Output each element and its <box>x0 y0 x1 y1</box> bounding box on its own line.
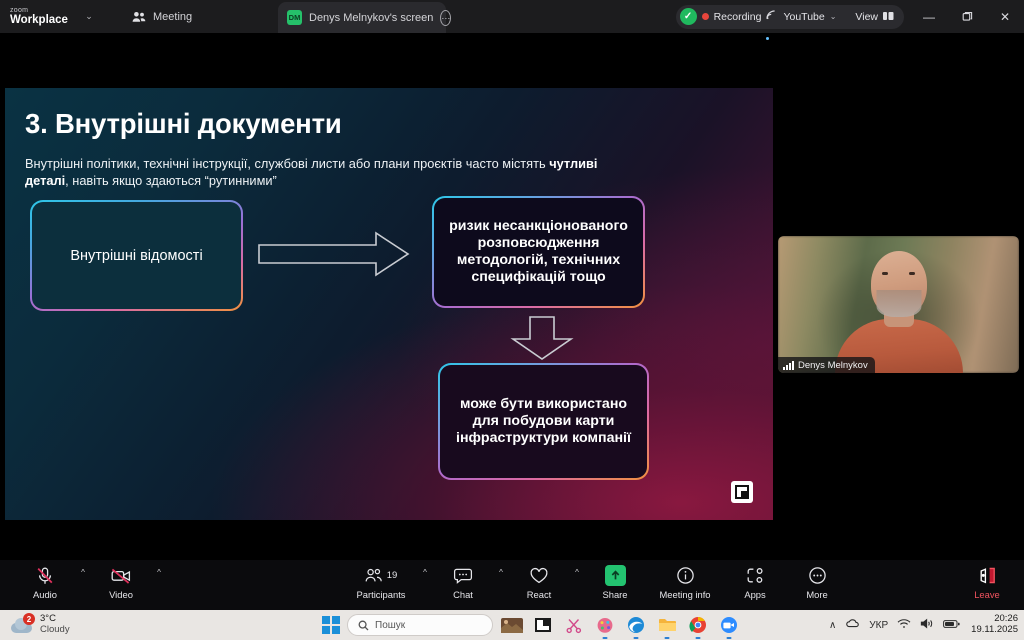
avatar: DM <box>287 10 302 25</box>
layout-icon <box>883 8 894 26</box>
participant-video-image <box>778 236 1019 373</box>
zoom-meeting-window: zoom Workplace ⌄ Meeting DM Denys Melnyk… <box>0 0 1024 640</box>
minimize-button[interactable]: — <box>910 0 948 33</box>
view-label[interactable]: View <box>855 11 878 23</box>
more-dots-icon <box>808 565 827 586</box>
titlebar-right-controls: ✓ Recording YouTube ⌄ View <box>676 0 1024 33</box>
toolbar-right-group: Leave <box>956 560 1018 600</box>
chevron-down-icon[interactable]: ⌄ <box>830 12 837 21</box>
participants-count: 19 <box>387 570 398 581</box>
windows-taskbar: 2 3°C Cloudy Пошук <box>0 610 1024 640</box>
share-button[interactable]: Share <box>584 560 646 600</box>
more-label: More <box>806 589 827 600</box>
tab-meeting[interactable]: Meeting <box>120 2 204 31</box>
apps-label: Apps <box>744 589 765 600</box>
cloud-icon: 2 <box>10 615 34 635</box>
more-options-icon[interactable]: ⋯ <box>440 10 451 26</box>
tray-expand-caret[interactable]: ∧ <box>829 620 836 631</box>
arrow-down-icon <box>502 316 582 365</box>
audio-options-caret[interactable]: ^ <box>76 560 90 577</box>
search-input[interactable]: Пошук <box>347 614 493 636</box>
tab-screen-share[interactable]: DM Denys Melnykov's screen ⋯ <box>278 2 446 33</box>
audio-label: Audio <box>33 589 57 600</box>
weather-text: 3°C Cloudy <box>40 614 70 636</box>
participants-button[interactable]: 19 Participants <box>344 560 418 600</box>
edge-icon[interactable] <box>624 614 648 636</box>
windows-start-icon[interactable] <box>322 616 340 634</box>
taskbar-center: Пошук <box>322 610 741 640</box>
participants-label: Participants <box>357 589 406 600</box>
wifi-icon[interactable] <box>897 618 911 632</box>
dark-app-icon[interactable] <box>531 614 555 636</box>
gamma-logo-icon <box>731 481 753 503</box>
brand-small-text: zoom <box>10 7 76 14</box>
subtitle-part-2: , навіть якщо здаються “рутинними” <box>65 173 277 188</box>
search-placeholder: Пошук <box>375 620 405 631</box>
page-title: 3. Внутрішні документи <box>25 108 342 140</box>
participant-name: Denys Melnykov <box>798 360 868 371</box>
arrow-right-icon <box>258 230 410 283</box>
zoom-icon[interactable] <box>717 614 741 636</box>
tab-meeting-label: Meeting <box>153 11 192 23</box>
leave-label: Leave <box>974 589 1000 600</box>
zoom-brand-logo: zoom Workplace <box>10 7 76 27</box>
react-button[interactable]: React <box>508 560 570 600</box>
chat-options-caret[interactable]: ^ <box>494 560 508 577</box>
signal-bars-icon <box>783 361 794 370</box>
diagram-box-outcome: може бути використано для побудови карти… <box>438 363 649 480</box>
info-icon <box>676 565 695 586</box>
video-button[interactable]: Video <box>90 560 152 600</box>
battery-icon[interactable] <box>943 619 960 632</box>
snipping-tool-icon[interactable] <box>562 614 586 636</box>
react-label: React <box>527 589 552 600</box>
file-explorer-icon[interactable] <box>655 614 679 636</box>
share-label: Share <box>602 589 627 600</box>
system-tray: ∧ УКР <box>829 610 1018 640</box>
participant-name-badge: Denys Melnykov <box>778 357 875 373</box>
clock-date: 19.11.2025 <box>971 625 1018 636</box>
video-label: Video <box>109 589 133 600</box>
shared-screen-area: 3. Внутрішні документи Внутрішні політик… <box>0 33 774 560</box>
search-icon <box>358 620 369 631</box>
maximize-button[interactable] <box>948 0 986 33</box>
presentation-slide: 3. Внутрішні документи Внутрішні політик… <box>5 88 773 520</box>
chat-icon <box>453 565 473 586</box>
weather-widget[interactable]: 2 3°C Cloudy <box>10 614 70 636</box>
leave-button[interactable]: Leave <box>956 560 1018 600</box>
subtitle-part-1: Внутрішні політики, технічні інструкції,… <box>25 156 549 171</box>
paint-icon[interactable] <box>593 614 617 636</box>
youtube-label[interactable]: YouTube <box>783 11 824 23</box>
chrome-icon[interactable] <box>686 614 710 636</box>
apps-button[interactable]: Apps <box>724 560 786 600</box>
microphone-muted-icon <box>35 565 55 586</box>
diagram-box-risk-label: ризик несанкціонованого розповсюдження м… <box>434 198 643 306</box>
diagram-box-source-label: Внутрішні відомості <box>32 202 241 309</box>
participant-video-tile[interactable]: Denys Melnykov <box>778 236 1019 373</box>
recording-label: Recording <box>714 11 762 23</box>
zoom-title-bar: zoom Workplace ⌄ Meeting DM Denys Melnyk… <box>0 0 1024 33</box>
more-button[interactable]: More <box>786 560 848 600</box>
react-options-caret[interactable]: ^ <box>570 560 584 577</box>
participants-options-caret[interactable]: ^ <box>418 560 432 577</box>
leave-door-icon <box>976 565 998 586</box>
recording-dot-icon <box>702 13 709 20</box>
diagram-box-outcome-label: може бути використано для побудови карти… <box>440 365 647 478</box>
toolbar-center-group: 19 Participants ^ Chat ^ <box>344 560 848 600</box>
camera-muted-icon <box>110 565 132 586</box>
notification-badge: 2 <box>23 613 35 625</box>
slide-subtitle: Внутрішні політики, технічні інструкції,… <box>25 156 625 190</box>
chevron-down-icon[interactable]: ⌄ <box>76 0 102 33</box>
tab-screen-label: Denys Melnykov's screen <box>309 12 433 24</box>
onedrive-icon[interactable] <box>845 618 860 632</box>
zoom-toolbar: Audio ^ Video ^ <box>0 560 1024 610</box>
toolbar-left-group: Audio ^ Video ^ <box>14 560 166 600</box>
apps-icon <box>746 565 765 586</box>
meeting-status-pill[interactable]: ✓ Recording YouTube ⌄ View <box>676 5 904 29</box>
youtube-icon <box>766 10 778 23</box>
meeting-info-button[interactable]: Meeting info <box>646 560 724 600</box>
video-options-caret[interactable]: ^ <box>152 560 166 577</box>
share-screen-icon <box>605 565 626 586</box>
heart-icon <box>529 565 549 586</box>
language-indicator[interactable]: УКР <box>869 620 888 631</box>
diagram-box-source: Внутрішні відомості <box>30 200 243 311</box>
weather-condition: Cloudy <box>40 625 70 636</box>
chat-label: Chat <box>453 589 473 600</box>
audio-button[interactable]: Audio <box>14 560 76 600</box>
photos-thumbnail-icon[interactable] <box>500 614 524 636</box>
volume-icon[interactable] <box>920 618 934 632</box>
participants-icon: 19 <box>365 565 398 586</box>
shield-check-icon: ✓ <box>680 8 697 25</box>
taskbar-clock[interactable]: 20:26 19.11.2025 <box>971 614 1018 636</box>
chat-button[interactable]: Chat <box>432 560 494 600</box>
people-icon <box>132 11 146 23</box>
brand-big-text: Workplace <box>10 15 76 27</box>
diagram-box-risk: ризик несанкціонованого розповсюдження м… <box>432 196 645 308</box>
close-button[interactable]: ✕ <box>986 0 1024 33</box>
share-indicator-dot <box>766 37 769 40</box>
meeting-info-label: Meeting info <box>659 589 710 600</box>
